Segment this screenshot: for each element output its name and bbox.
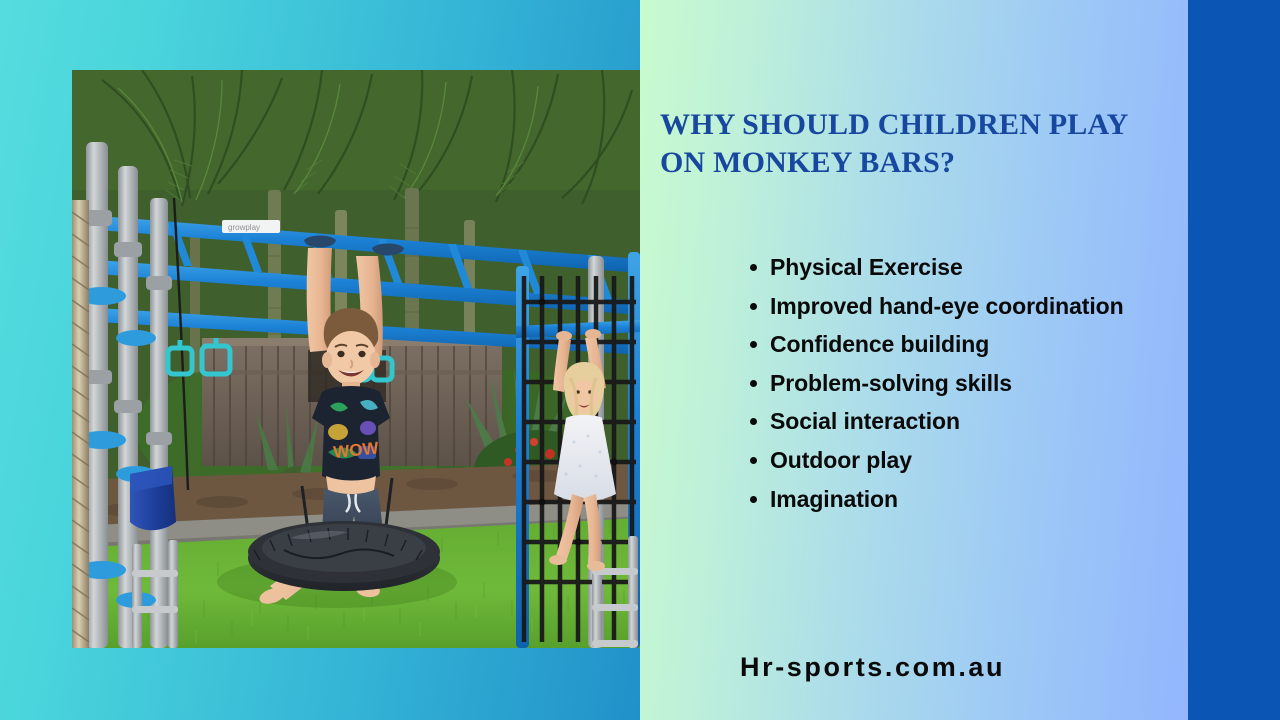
right-edge-accent-bar [1188, 0, 1280, 720]
benefits-list: Physical Exercise Improved hand-eye coor… [744, 248, 1190, 518]
page-title: WHY SHOULD CHILDREN PLAY ON MONKEY BARS? [660, 106, 1180, 183]
playground-photo-illustration: growplay [72, 70, 640, 648]
site-url[interactable]: Hr-sports.com.au [740, 652, 1005, 683]
list-item: Confidence building [770, 325, 1190, 364]
list-item: Outdoor play [770, 441, 1190, 480]
playground-photo: growplay [72, 70, 640, 648]
list-item: Problem-solving skills [770, 364, 1190, 403]
list-item: Social interaction [770, 402, 1190, 441]
left-gradient-panel: growplay [0, 0, 640, 720]
slide-canvas: growplay [0, 0, 1280, 720]
equipment-brand-label: growplay [228, 223, 260, 232]
list-item: Physical Exercise [770, 248, 1190, 287]
list-item: Imagination [770, 480, 1190, 519]
list-item: Improved hand-eye coordination [770, 287, 1190, 326]
